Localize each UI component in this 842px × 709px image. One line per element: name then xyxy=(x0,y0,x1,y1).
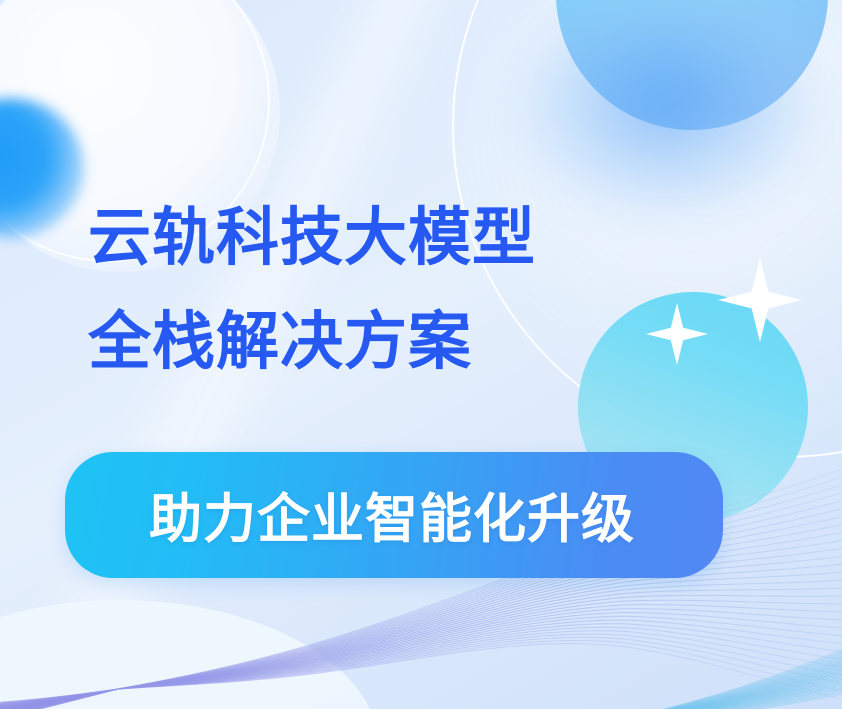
sparkle-small-icon xyxy=(646,303,708,365)
sparkle-large-icon xyxy=(718,258,802,342)
blue-glow-highlight xyxy=(520,10,820,220)
headline-line-1: 云轨科技大模型 xyxy=(88,186,536,290)
headline-block: 云轨科技大模型 全栈解决方案 xyxy=(88,186,536,394)
promo-poster: 云轨科技大模型 全栈解决方案 助力企业智能化升级 xyxy=(0,0,842,709)
pale-band-bottom-left xyxy=(0,600,380,709)
headline-line-2: 全栈解决方案 xyxy=(88,290,536,394)
cta-pill-button[interactable]: 助力企业智能化升级 xyxy=(65,452,723,578)
blue-blob-top-right xyxy=(556,0,828,130)
blue-blob-left-edge xyxy=(0,98,84,238)
cta-pill-label: 助力企业智能化升级 xyxy=(149,477,635,553)
